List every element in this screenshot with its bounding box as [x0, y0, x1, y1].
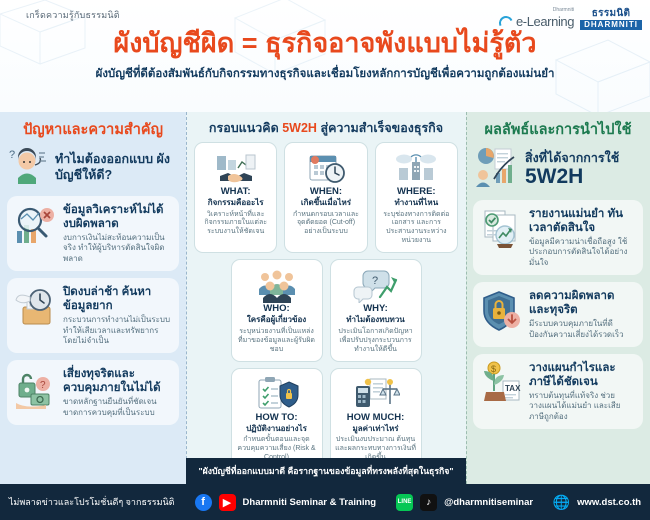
left-card-title: เสี่ยงทุจริตและควบคุมภายในไม่ได้	[63, 367, 171, 395]
dharmniti-logo-th: ธรรมนิติ	[580, 9, 642, 19]
left-card: ข้อมูลวิเคราะห์ไม่ได้ งบผิดพลาด งบการเงิ…	[7, 196, 179, 271]
center-heading-highlight: 5W2H	[282, 121, 317, 135]
framework-row: WHAT: กิจกรรมคืออะไร วิเคราะห์หน้าที่และ…	[194, 142, 458, 253]
magnifier-chart-error-icon	[13, 203, 57, 247]
svg-text:$: $	[491, 364, 496, 374]
globe-icon[interactable]: 🌐	[553, 494, 570, 511]
calendar-clock-icon	[289, 149, 362, 187]
cloud-network-buildings-icon	[380, 149, 453, 187]
dharmniti-logo: ธรรมนิติ DHARMNITI	[580, 9, 642, 30]
right-intro-big: 5W2H	[525, 165, 583, 188]
framework-card-who: WHO: ใครคือผู้เกี่ยวข้อง ระบุหน่วยงานที่…	[231, 259, 323, 361]
page-title: ผังบัญชีผิด = ธุรกิจอาจพังแบบไม่รู้ตัว	[10, 28, 640, 59]
left-card-desc: งบการเงินไม่สะท้อนความเป็นจริง ทำให้ผู้บ…	[63, 233, 171, 264]
column-problems: ปัญหาและความสำคัญ ? ทำไมต้องออกแบบ ผังบั…	[0, 112, 186, 484]
framework-card-sub: ทำไมต้องทบทวน	[335, 315, 417, 325]
framework-card-key: WHO:	[236, 304, 318, 315]
tiktok-icon[interactable]: ♪	[420, 494, 437, 511]
framework-card-sub: ปฏิบัติงานอย่างไร	[236, 424, 318, 434]
left-card: ปิดงบล่าช้า ค้นหาข้อมูลยาก กระบวนการทำงา…	[7, 278, 179, 353]
left-card-body: เสี่ยงทุจริตและควบคุมภายในไม่ได้ ขาดหลัก…	[63, 367, 171, 418]
youtube-icon[interactable]: ▶	[219, 494, 236, 511]
svg-text:?: ?	[372, 275, 378, 287]
left-card-body: ปิดงบล่าช้า ค้นหาข้อมูลยาก กระบวนการทำงา…	[63, 285, 171, 346]
page-subtitle: ผังบัญชีที่ดีต้องสัมพันธ์กับกิจกรรมทางธุ…	[10, 65, 640, 83]
column-framework: กรอบแนวคิด 5W2H สู่ความสำเร็จของธุรกิจ	[186, 112, 466, 484]
shield-lock-arrow-down-icon	[479, 289, 523, 333]
right-card-title: ลดความผิดพลาดและทุจริต	[529, 289, 635, 317]
checklist-shield-icon	[236, 375, 318, 413]
right-card-body: วางแผนกำไรและภาษีได้ชัดเจน ทราบต้นทุนที่…	[529, 361, 635, 422]
framework-card-sub: ใครคือผู้เกี่ยวข้อง	[236, 315, 318, 325]
broken-lock-money-hand-icon: ?	[13, 367, 57, 411]
left-card-desc: กระบวนการทำงานไม่เป็นระบบ ทำให้เสียเวลาแ…	[63, 315, 171, 346]
right-card-title: วางแผนกำไรและภาษีได้ชัดเจน	[529, 361, 635, 389]
framework-card-howmuch: HOW MUCH: มูลค่าเท่าไหร่ ประเมินงบประมาณ…	[330, 368, 422, 470]
framework-card-what: WHAT: กิจกรรมคืออะไร วิเคราะห์หน้าที่และ…	[194, 142, 277, 253]
left-column-heading: ปัญหาและความสำคัญ	[0, 112, 186, 145]
right-intro-text: สิ่งที่ได้จากการใช้	[525, 151, 619, 165]
framework-card-key: WHEN:	[289, 187, 362, 198]
confused-person-icon: ?	[8, 145, 50, 190]
framework-card-sub: มูลค่าเท่าไหร่	[335, 424, 417, 434]
left-intro: ? ทำไมต้องออกแบบ ผังบัญชีให้ดี?	[0, 145, 186, 196]
clock-file-cabinet-icon	[13, 285, 57, 329]
left-card: ? เสี่ยงทุจริตและควบคุมภายในไม่ได้ ขาดหล…	[7, 360, 179, 425]
left-card-title: ปิดงบล่าช้า ค้นหาข้อมูลยาก	[63, 285, 171, 313]
svg-text:?: ?	[40, 380, 46, 391]
left-intro-text: ทำไมต้องออกแบบ ผังบัญชีให้ดี?	[55, 152, 178, 183]
facebook-icon[interactable]: f	[195, 494, 212, 511]
three-column-body: ปัญหาและความสำคัญ ? ทำไมต้องออกแบบ ผังบั…	[0, 112, 650, 484]
framework-card-key: WHERE:	[380, 187, 453, 198]
framework-card-desc: ประเมินโอกาสเกิดปัญหาเพื่อปรับปรุงกระบวน…	[335, 328, 417, 355]
framework-cards: WHAT: กิจกรรมคืออะไร วิเคราะห์หน้าที่และ…	[186, 142, 466, 470]
handshake-buildings-chart-icon	[199, 149, 272, 187]
column-divider-left	[186, 112, 187, 484]
framework-card-key: WHY:	[335, 304, 417, 315]
center-column-heading: กรอบแนวคิด 5W2H สู่ความสำเร็จของธุรกิจ	[186, 112, 466, 142]
elearning-logo-sup: Dharmniti	[516, 8, 574, 13]
right-card-body: รายงานแม่นยำ ทันเวลาตัดสินใจ ข้อมูลมีควา…	[529, 207, 635, 268]
quote-banner: "ผังบัญชีที่ออกแบบมาดี คือรากฐานของข้อมู…	[186, 458, 466, 484]
framework-card-desc: ระบุหน่วยงานที่เป็นแหล่งที่มาของข้อมูลแล…	[236, 328, 318, 355]
right-card-title: รายงานแม่นยำ ทันเวลาตัดสินใจ	[529, 207, 635, 235]
left-card-title: ข้อมูลวิเคราะห์ไม่ได้ งบผิดพลาด	[63, 203, 171, 231]
framework-card-key: HOW TO:	[236, 413, 318, 424]
svg-text:TAX: TAX	[505, 384, 521, 393]
right-card: รายงานแม่นยำ ทันเวลาตัดสินใจ ข้อมูลมีควา…	[473, 200, 643, 275]
framework-card-where: WHERE: ทำงานที่ไหน ระบุช่องทางการติดต่อเ…	[375, 142, 458, 253]
speech-bubble-question-growth-icon: ?	[335, 266, 417, 304]
calculator-scale-coins-icon	[335, 375, 417, 413]
center-heading-suffix: สู่ความสำเร็จของธุรกิจ	[317, 121, 443, 135]
framework-card-desc: วิเคราะห์หน้าที่และกิจกรรมภายในแต่ละระบบ…	[199, 211, 272, 238]
framework-card-desc: กำหนดกรอบเวลาและจุดตัดยอด (Cut-off) อย่า…	[289, 211, 362, 238]
framework-row: WHO: ใครคือผู้เกี่ยวข้อง ระบุหน่วยงานที่…	[194, 259, 458, 361]
right-card-body: ลดความผิดพลาดและทุจริต มีระบบควบคุมภายใน…	[529, 289, 635, 340]
center-heading-prefix: กรอบแนวคิด	[209, 121, 282, 135]
svg-text:?: ?	[9, 149, 15, 161]
footer-bar: ไม่พลาดข่าวและโปรโมชั่นดีๆ จากธรรมนิติ f…	[0, 484, 650, 520]
right-card: $ TAX วางแผนกำไรและภาษีได้ชัดเจน ทราบต้น…	[473, 354, 643, 429]
column-divider-right	[466, 112, 467, 484]
framework-card-sub: ทำงานที่ไหน	[380, 198, 453, 208]
framework-row: HOW TO: ปฏิบัติงานอย่างไร กำหนดขั้นตอนแล…	[194, 368, 458, 470]
right-card-desc: ทราบต้นทุนที่แท้จริง ช่วยวางแผนได้แม่นยำ…	[529, 391, 635, 422]
elearning-logo-text: e-Learning	[516, 14, 574, 29]
right-intro: สิ่งที่ได้จากการใช้ 5W2H	[466, 145, 650, 200]
left-card-desc: ขาดหลักฐานยืนยันที่ชัดเจน ขาดการควบคุมที…	[63, 397, 171, 418]
footer-website[interactable]: www.dst.co.th	[577, 497, 641, 508]
right-card: ลดความผิดพลาดและทุจริต มีระบบควบคุมภายใน…	[473, 282, 643, 347]
right-card-desc: มีระบบควบคุมภายในที่ดี ป้องกันความเสี่ยง…	[529, 319, 635, 340]
right-column-heading: ผลลัพธ์และการนำไปใช้	[466, 112, 650, 145]
infographic-page: เกร็ดความรู้กับธรรมนิติ Dharmniti e-Lear…	[0, 0, 650, 520]
column-results: ผลลัพธ์และการนำไปใช้	[466, 112, 650, 484]
framework-card-when: WHEN: เกิดขึ้นเมื่อไหร่ กำหนดกรอบเวลาและ…	[284, 142, 367, 253]
right-intro-text-group: สิ่งที่ได้จากการใช้ 5W2H	[525, 151, 619, 189]
framework-card-why: ? WHY: ทำไมต้องทบทวน ประเมินโอกาสเกิดปัญ…	[330, 259, 422, 361]
pie-chart-growth-person-icon	[474, 145, 520, 194]
framework-card-desc: ระบุช่องทางการติดต่อเอกสาร และการประสานง…	[380, 211, 453, 247]
framework-card-key: HOW MUCH:	[335, 413, 417, 424]
team-people-icon	[236, 266, 318, 304]
report-check-crystalball-icon	[479, 207, 523, 251]
footer-brand: Dharmniti Seminar & Training	[243, 497, 377, 508]
footer-handle: @dharmnitiseminar	[444, 497, 533, 508]
header: เกร็ดความรู้กับธรรมนิติ Dharmniti e-Lear…	[0, 0, 650, 112]
framework-card-sub: กิจกรรมคืออะไร	[199, 198, 272, 208]
framework-card-sub: เกิดขึ้นเมื่อไหร่	[289, 198, 362, 208]
framework-card-howto: HOW TO: ปฏิบัติงานอย่างไร กำหนดขั้นตอนแล…	[231, 368, 323, 470]
money-plant-tax-icon: $ TAX	[479, 361, 523, 405]
footer-text: ไม่พลาดข่าวและโปรโมชั่นดีๆ จากธรรมนิติ	[9, 495, 175, 509]
right-card-desc: ข้อมูลมีความน่าเชื่อถือสูง ใช้ประกอบการต…	[529, 237, 635, 268]
framework-card-key: WHAT:	[199, 187, 272, 198]
left-card-body: ข้อมูลวิเคราะห์ไม่ได้ งบผิดพลาด งบการเงิ…	[63, 203, 171, 264]
line-icon[interactable]: LINE	[396, 494, 413, 511]
